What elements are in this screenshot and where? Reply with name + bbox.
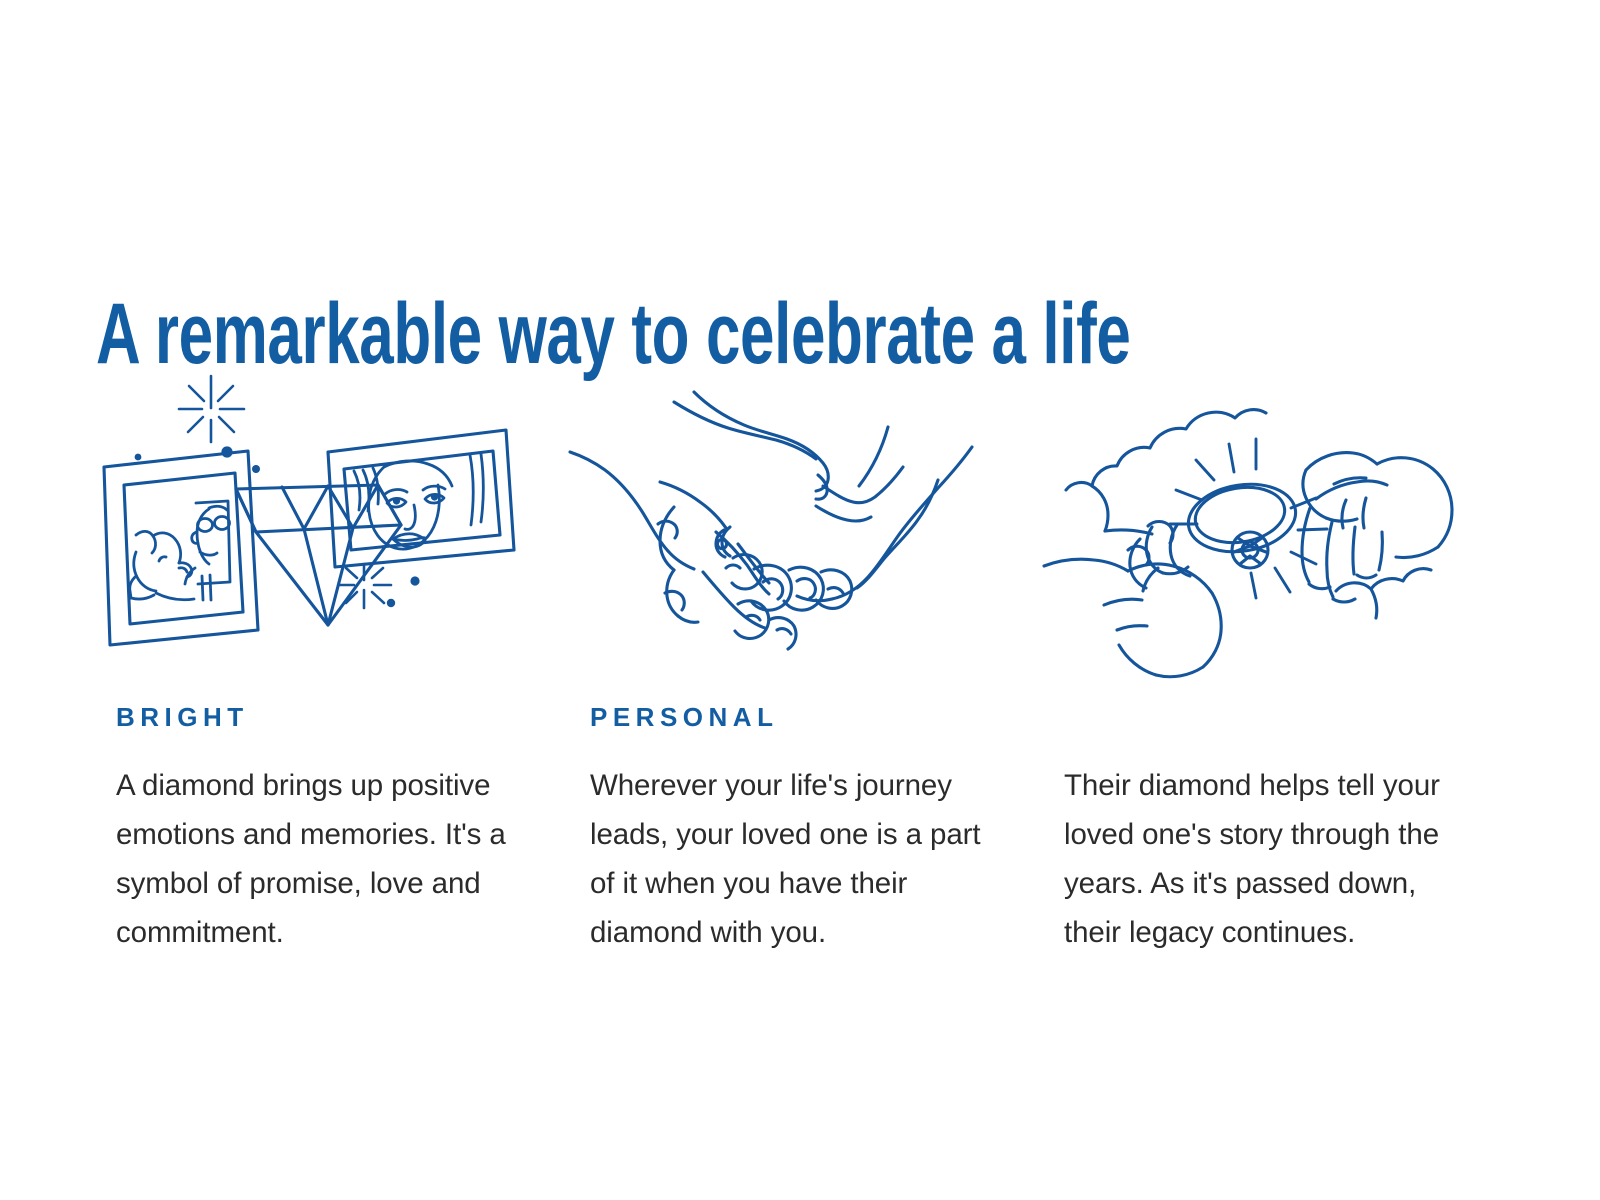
page-title: A remarkable way to celebrate a life xyxy=(96,286,1104,382)
feature-body-personal: Wherever your life's journey leads, your… xyxy=(590,761,1000,957)
upper-right-hand xyxy=(1302,453,1452,602)
passing-ring-graphic xyxy=(1044,372,1464,662)
feature-heading-personal: PERSONAL xyxy=(590,702,990,736)
lower-hand xyxy=(570,452,726,622)
clasped-hands-graphic xyxy=(570,372,990,662)
photos-and-diamond-illustration xyxy=(96,372,516,662)
photo-frame-left xyxy=(104,451,258,645)
feature-column-bright: BRIGHT A diamond brings up positive emot… xyxy=(96,372,516,957)
photo-frame-right xyxy=(328,430,514,567)
feature-body-legacy: Their diamond helps tell your loved one'… xyxy=(1064,761,1476,957)
sparkle-icon xyxy=(179,376,244,442)
passing-ring-illustration xyxy=(1044,372,1464,662)
feature-body-bright: A diamond brings up positive emotions an… xyxy=(116,761,516,957)
feature-columns: BRIGHT A diamond brings up positive emot… xyxy=(96,372,1516,957)
lower-left-hand xyxy=(1044,522,1221,677)
diamond-icon xyxy=(236,485,401,625)
feature-column-legacy: Their diamond helps tell your loved one'… xyxy=(1044,372,1464,957)
feature-heading-bright: BRIGHT xyxy=(116,702,516,736)
clasped-hands-illustration xyxy=(570,372,990,662)
feature-column-personal: PERSONAL Wherever your life's journey le… xyxy=(570,372,990,957)
cloud-shapes xyxy=(1066,410,1431,618)
marketing-feature-section: A remarkable way to celebrate a life xyxy=(0,0,1600,1200)
upper-hand xyxy=(674,392,903,521)
photos-and-diamond-graphic xyxy=(96,372,516,662)
diamond-ring-icon xyxy=(1184,477,1301,568)
photo-woman-face xyxy=(354,454,483,549)
photo-dog-and-man xyxy=(130,501,230,600)
right-hand xyxy=(797,447,972,601)
